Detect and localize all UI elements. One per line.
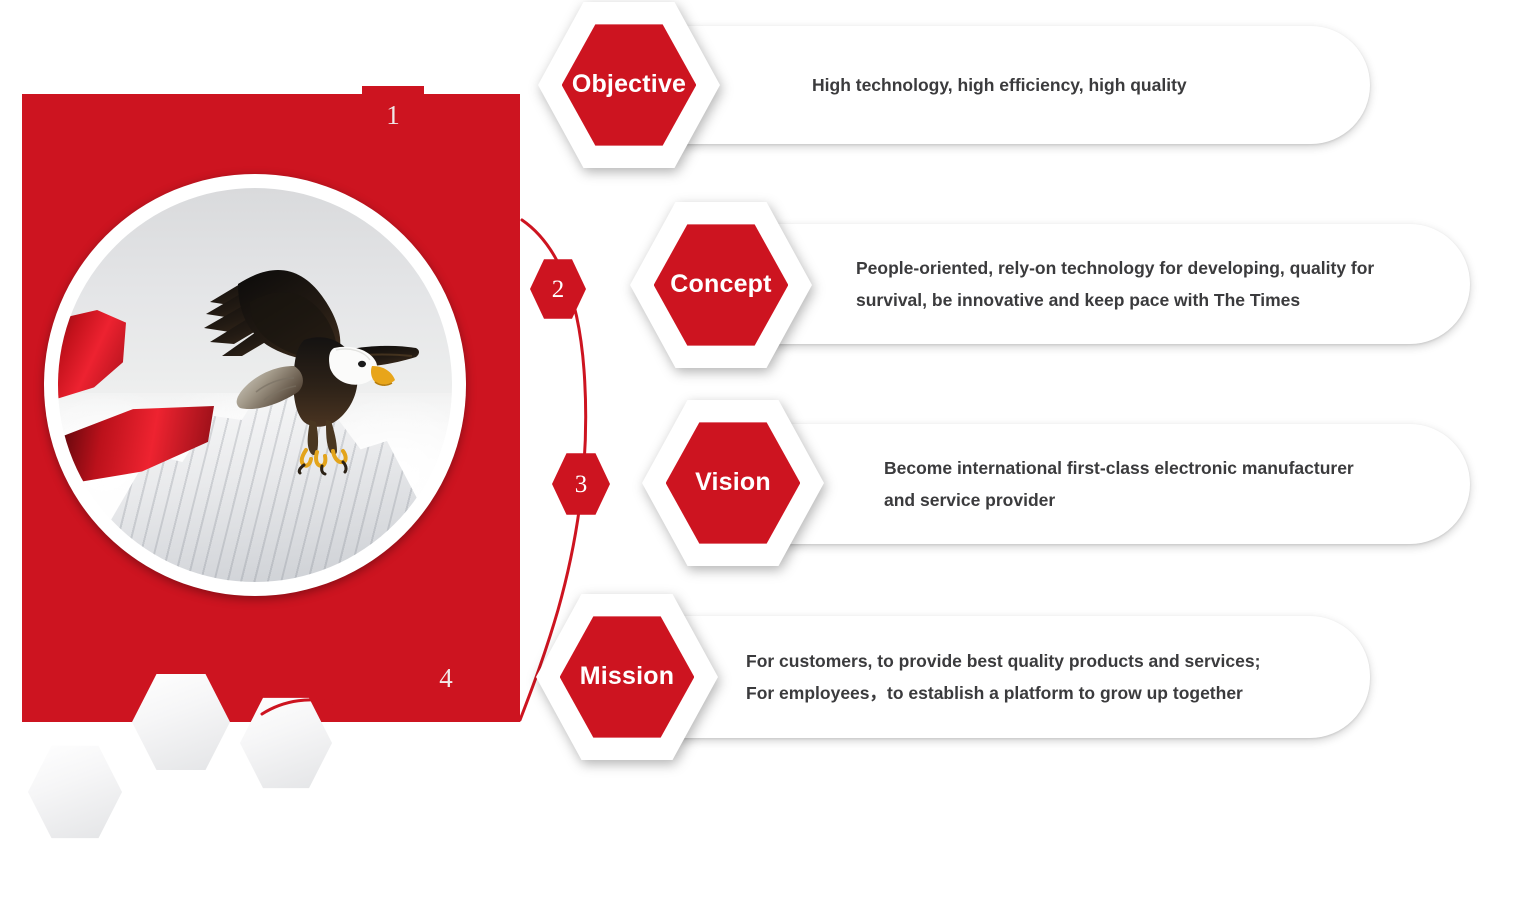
deco-hex-1 — [28, 744, 122, 840]
eagle-icon — [176, 244, 426, 484]
infographic-canvas: 1 4 — [0, 0, 1532, 912]
concept-pill[interactable]: People-oriented, rely-on technology for … — [700, 224, 1470, 344]
vision-hexagon[interactable]: Vision — [642, 400, 824, 566]
concept-hexagon[interactable]: Concept — [630, 202, 812, 368]
mission-hexagon[interactable]: Mission — [536, 594, 718, 760]
objective-body: High technology, high efficiency, high q… — [812, 69, 1187, 101]
vision-body: Become international first-class electro… — [884, 452, 1354, 516]
photo-circle-frame — [44, 174, 466, 596]
marker-number-1: 1 — [362, 95, 424, 135]
objective-hex-label: Objective — [572, 70, 686, 99]
objective-hexagon[interactable]: Objective — [538, 2, 720, 168]
marker-number-4: 4 — [418, 657, 474, 699]
vision-pill[interactable]: Become international first-class electro… — [728, 424, 1470, 544]
deco-arc — [258, 690, 348, 730]
mission-hex-label: Mission — [580, 662, 674, 691]
connector-marker-3-label: 3 — [575, 472, 588, 497]
mission-body: For customers, to provide best quality p… — [746, 645, 1260, 709]
connector-marker-2-label: 2 — [552, 277, 565, 302]
concept-hex-label: Concept — [670, 270, 771, 299]
red-ribbon-upper — [58, 310, 126, 400]
concept-body: People-oriented, rely-on technology for … — [856, 252, 1374, 316]
vision-hex-label: Vision — [695, 468, 771, 497]
eagle-over-mountains-photo — [58, 188, 452, 582]
